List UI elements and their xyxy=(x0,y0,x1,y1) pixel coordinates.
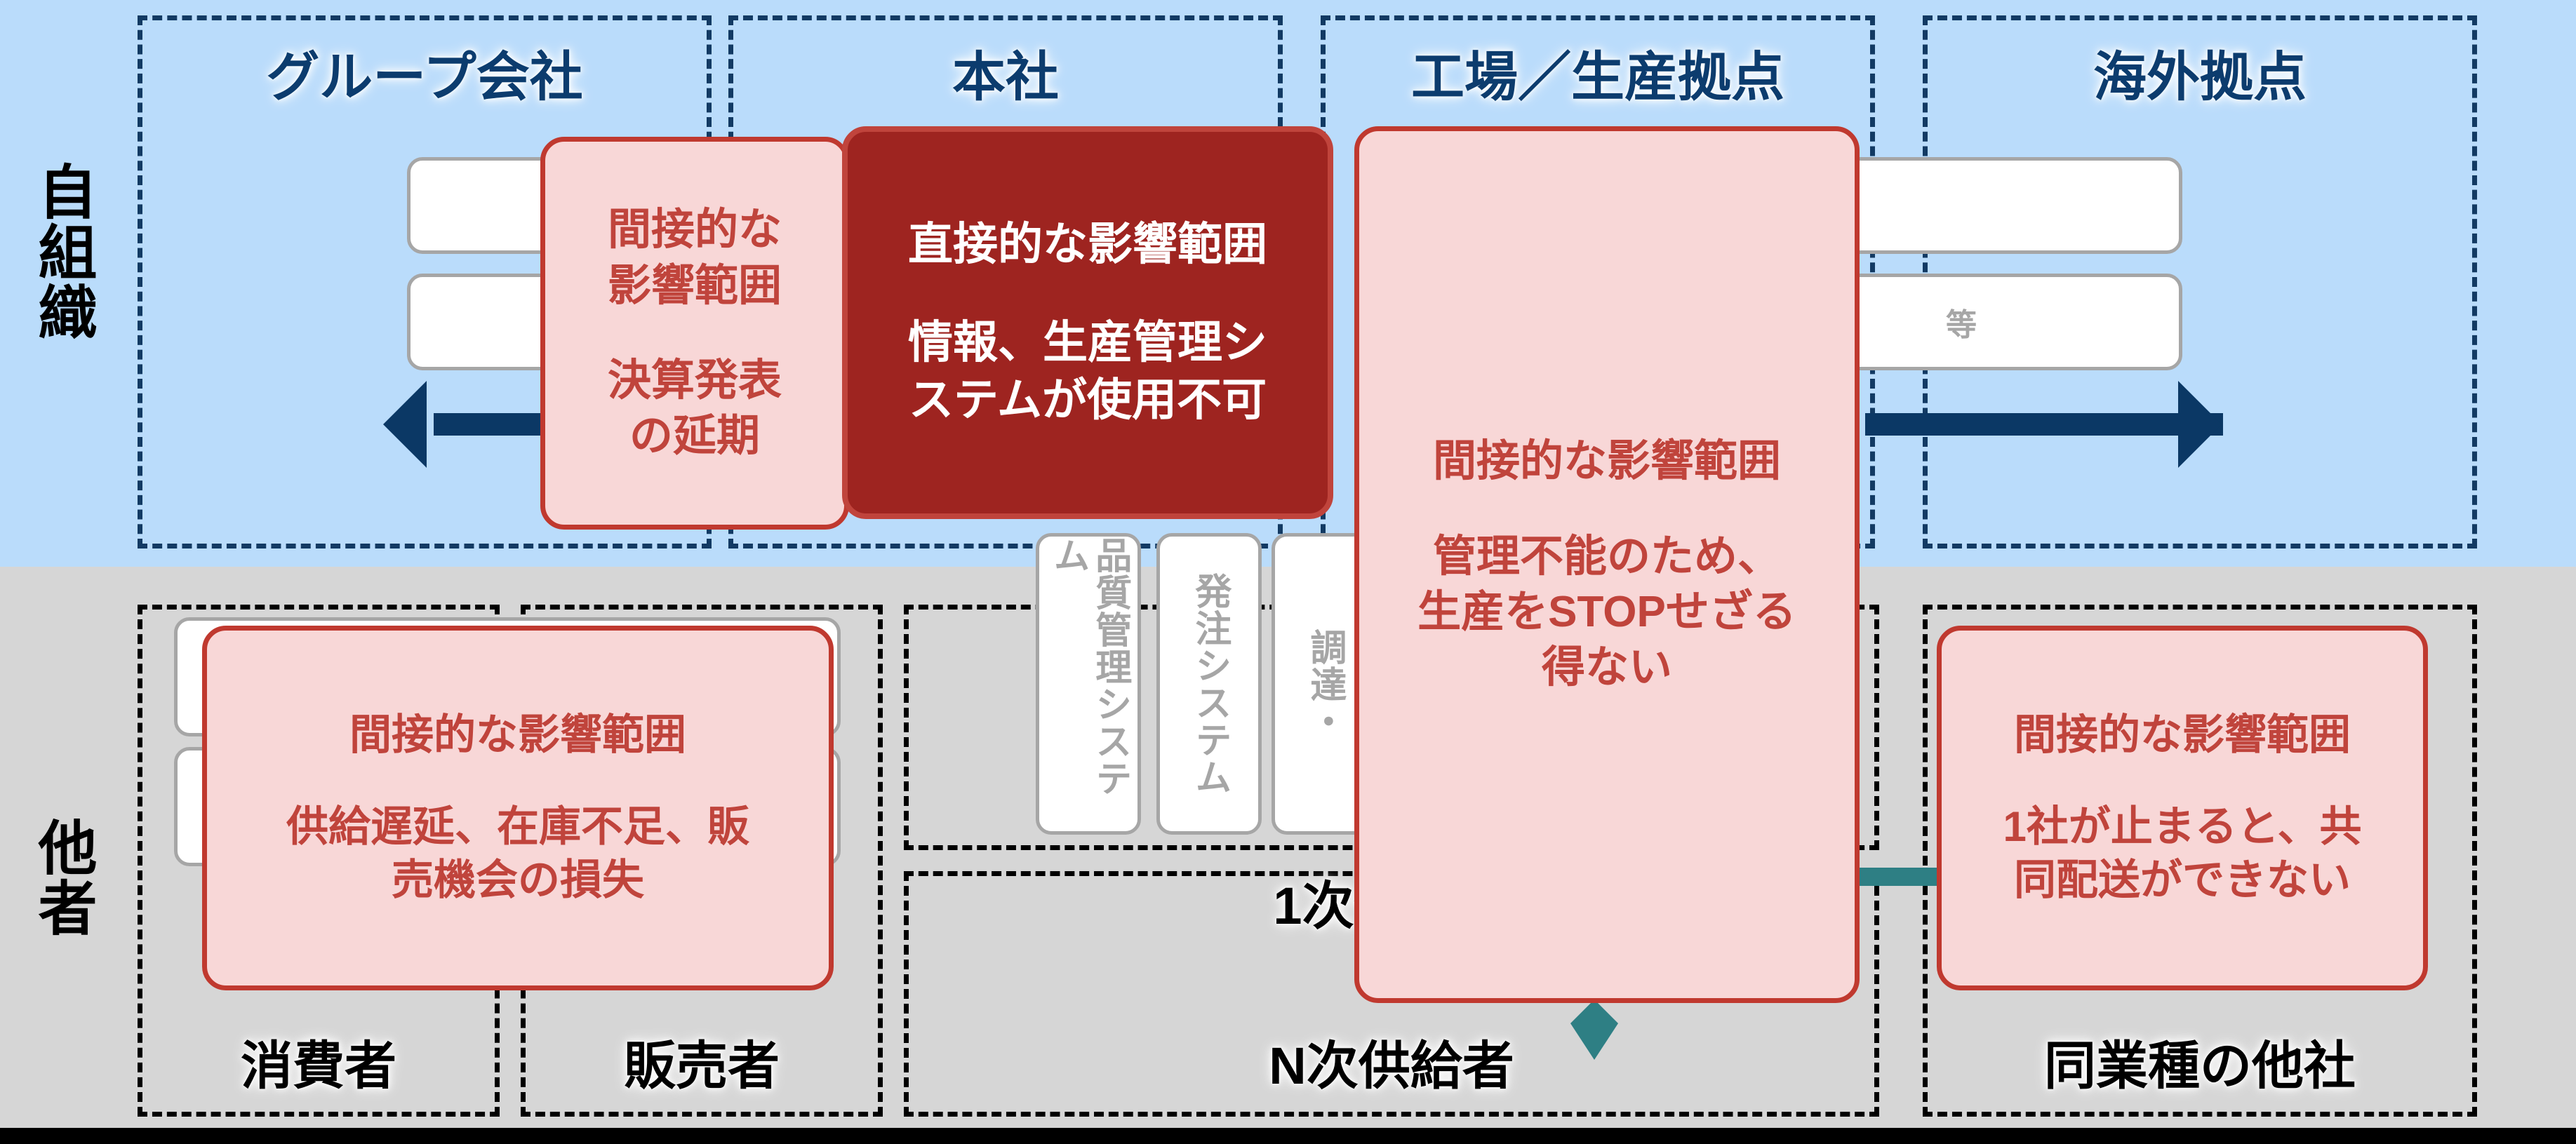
callout-group-body-line-2: の延期 xyxy=(629,412,760,460)
row-label-own-organization: 自組織 xyxy=(34,161,93,342)
section-title-consumer: 消費者 xyxy=(138,1024,500,1099)
callout-factory-body-line-2: 生産をSTOPせざる xyxy=(1417,588,1796,636)
callout-sameindustry-body-line-2: 同配送ができない xyxy=(2014,856,2351,903)
section-title-tierN-supplier: N次供給者 xyxy=(904,1024,1879,1099)
arrow-right-head-icon xyxy=(2178,381,2222,468)
row-label-other-parties: 他者 xyxy=(34,817,93,938)
callout-headoffice-head: 直接的な影響範囲 xyxy=(908,216,1267,274)
arrow-right-shaft xyxy=(1865,413,2223,436)
section-title-group-company: グループ会社 xyxy=(138,34,712,111)
callout-group-head-line-2: 影響範囲 xyxy=(608,262,782,310)
callout-factory-head: 間接的な影響範囲 xyxy=(1433,433,1781,489)
section-title-head-office: 本社 xyxy=(728,34,1283,111)
callout-factory-impact[interactable]: 間接的な影響範囲 管理不能のため、 生産をSTOPせざる 得ない xyxy=(1354,126,1860,1003)
callout-consumer-head: 間接的な影響範囲 xyxy=(349,708,686,762)
callout-head-office-impact[interactable]: 直接的な影響範囲 情報、生産管理シ ステムが使用不可 xyxy=(842,126,1333,519)
section-title-same-industry: 同業種の他社 xyxy=(1923,1024,2477,1099)
callout-group-head-line-1: 間接的な xyxy=(608,206,782,254)
arrow-left-head-icon xyxy=(383,381,427,468)
callout-factory-body-line-3: 得ない xyxy=(1542,643,1672,692)
callout-same-industry-impact[interactable]: 間接的な影響範囲 1社が止まると、共 同配送ができない xyxy=(1937,626,2428,990)
diagram-canvas: 自組織 他者 グループ会社 本社 工場／生産拠点 海外拠点 消費者 販売者 1次… xyxy=(0,0,2576,1144)
node-quality-management-system[interactable]: 品質管理システム xyxy=(1036,533,1141,835)
callout-headoffice-body-line-1: 情報、生産管理シ xyxy=(908,317,1267,368)
node-order-system[interactable]: 発注システム xyxy=(1156,533,1262,835)
section-title-factory: 工場／生産拠点 xyxy=(1321,34,1875,111)
callout-group-company-impact[interactable]: 間接的な 影響範囲 決算発表 の延期 xyxy=(540,137,849,530)
callout-consumer-body-line-2: 売機会の損失 xyxy=(392,856,644,903)
section-title-reseller: 販売者 xyxy=(521,1024,883,1099)
callout-group-body-line-1: 決算発表 xyxy=(608,356,782,405)
callout-factory-body-line-1: 管理不能のため、 xyxy=(1433,532,1781,581)
callout-sameindustry-body-line-1: 1社が止まると、共 xyxy=(2003,803,2362,850)
callout-consumer-body-line-1: 供給遅延、在庫不足、販 xyxy=(286,803,749,850)
callout-headoffice-body-line-2: ステムが使用不可 xyxy=(909,375,1267,425)
callout-consumer-impact[interactable]: 間接的な影響範囲 供給遅延、在庫不足、販 売機会の損失 xyxy=(202,626,834,990)
callout-sameindustry-head: 間接的な影響範囲 xyxy=(2014,708,2351,762)
section-title-overseas: 海外拠点 xyxy=(1923,34,2477,111)
